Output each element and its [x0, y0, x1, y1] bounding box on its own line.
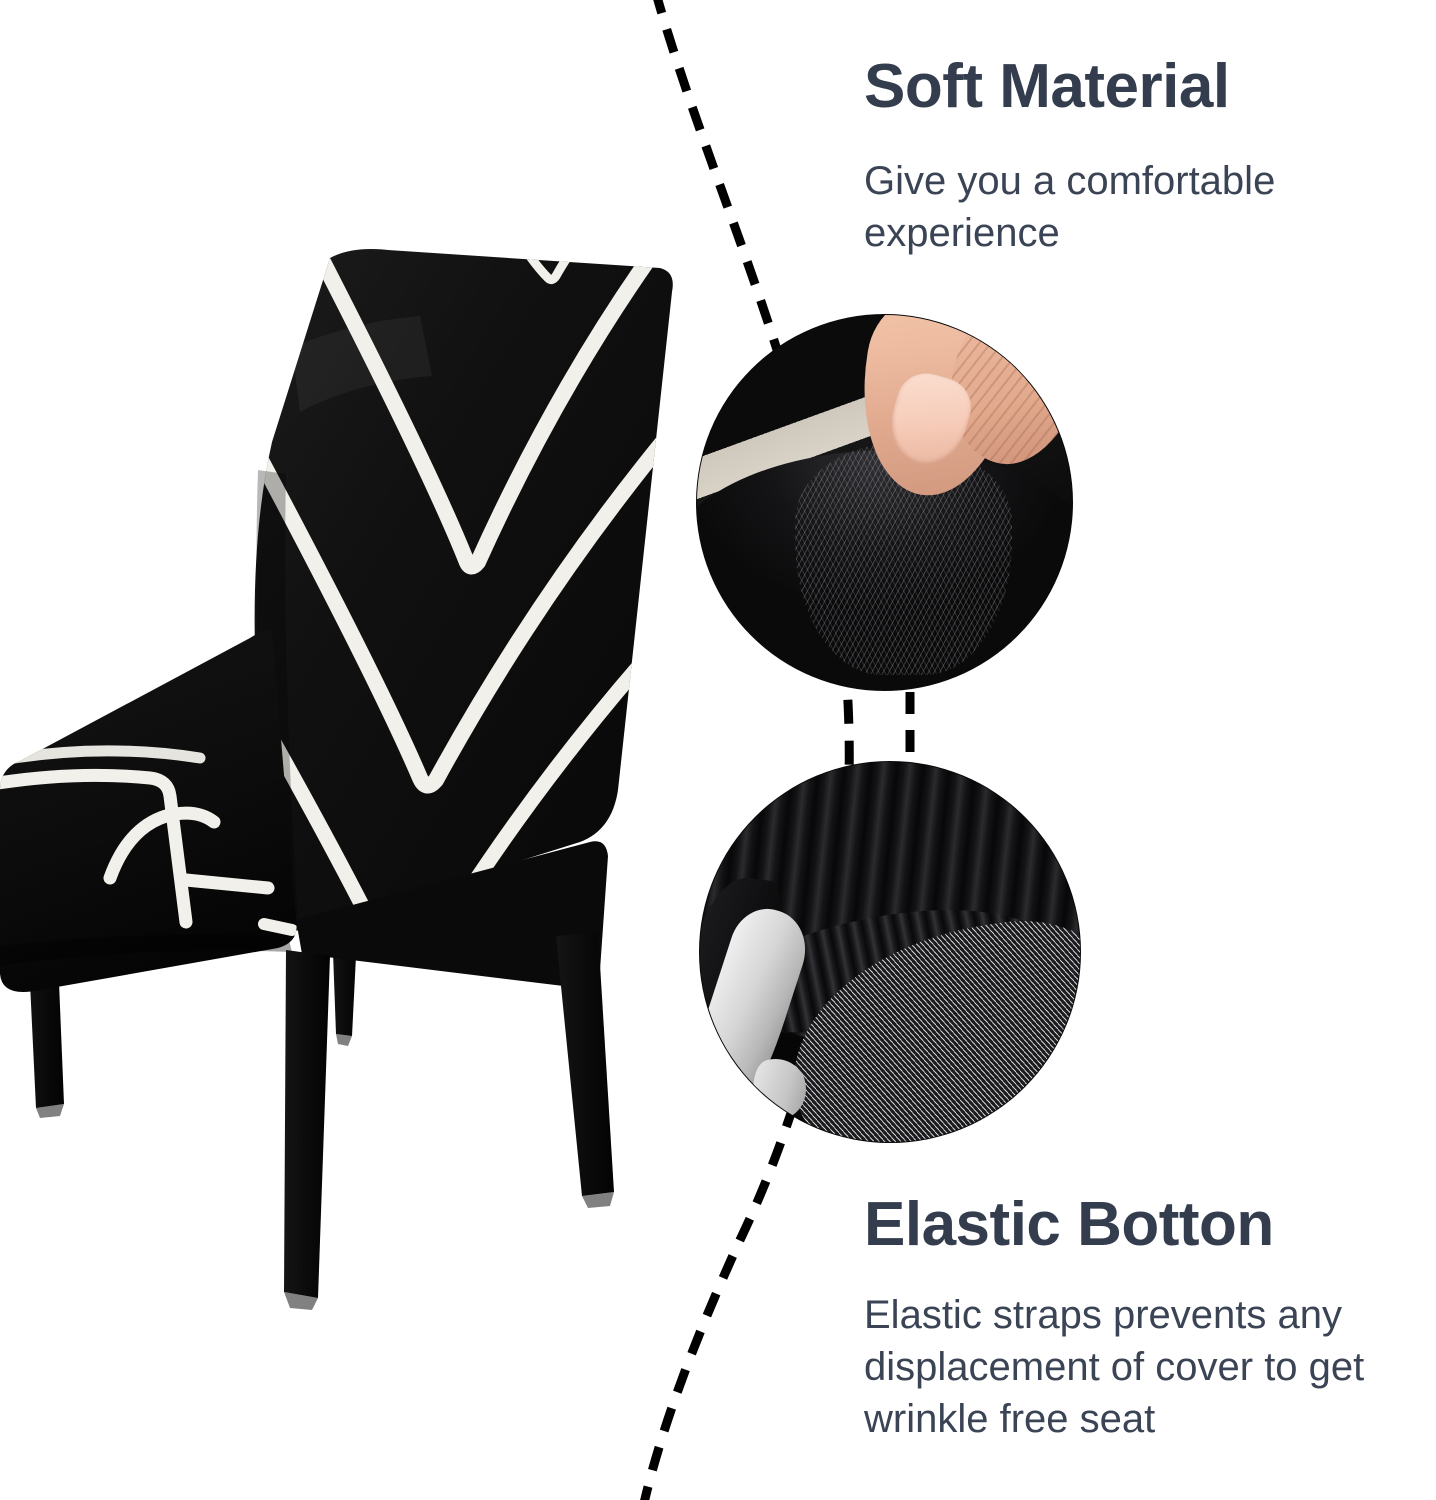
feature-elastic-botton: Elastic Botton Elastic straps prevents a… — [864, 1192, 1434, 1445]
chair-product-image — [0, 230, 700, 1320]
dashed-connector-line — [880, 690, 940, 770]
chair-legs-front — [284, 932, 614, 1298]
elastic-botton-description: Elastic straps prevents any displacement… — [864, 1289, 1434, 1445]
soft-material-description: Give you a comfortable experience — [864, 155, 1374, 259]
infographic-canvas: Soft Material Give you a comfortable exp… — [0, 0, 1436, 1500]
chair-seat — [0, 630, 297, 992]
fabric-pinch-icon — [697, 315, 1072, 690]
soft-material-heading: Soft Material — [864, 54, 1374, 121]
elastic-hem-icon — [700, 762, 1080, 1142]
elastic-botton-heading: Elastic Botton — [864, 1192, 1434, 1259]
feature-soft-material: Soft Material Give you a comfortable exp… — [864, 54, 1374, 259]
